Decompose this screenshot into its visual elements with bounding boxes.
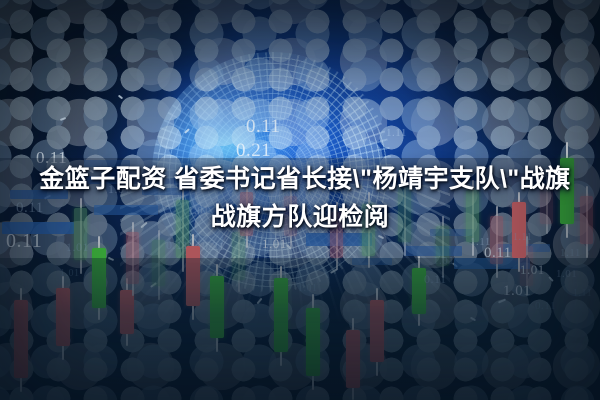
article-header-image: 0.110.110.111.011.011.011.010.110.211.11… <box>0 0 600 400</box>
edge-vignette <box>0 0 600 400</box>
